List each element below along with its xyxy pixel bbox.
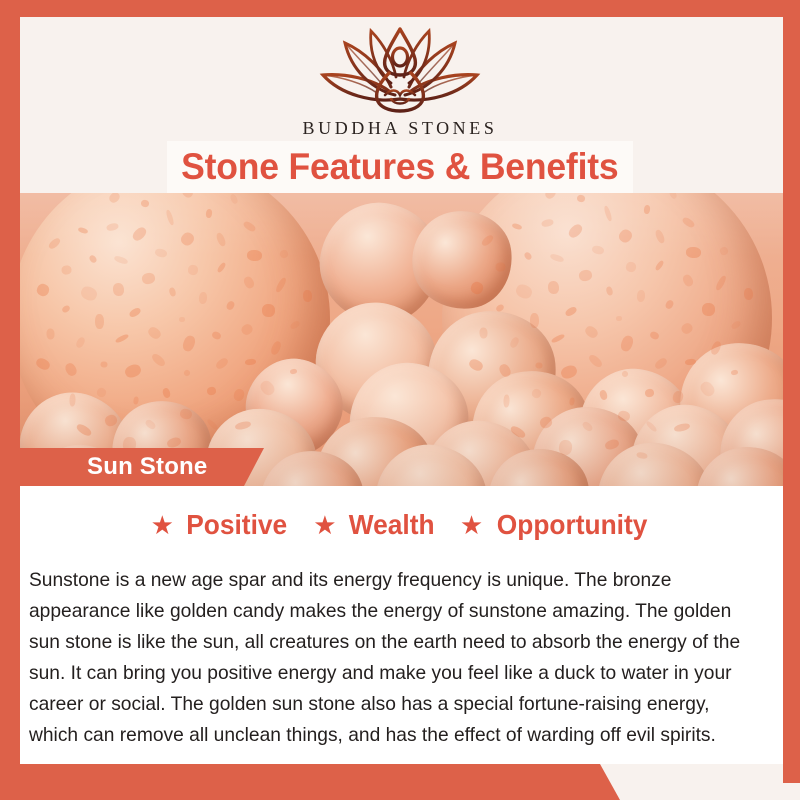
star-icon: ★	[313, 512, 336, 538]
product-photo	[20, 193, 783, 486]
star-icon: ★	[151, 512, 174, 538]
stone-name-label: Sun Stone	[87, 453, 207, 481]
title-banner: Stone Features & Benefits	[167, 141, 633, 193]
benefit-label: Positive	[186, 509, 287, 541]
brand-logo-block: BUDDHA STONES	[0, 25, 800, 137]
benefit-label: Opportunity	[497, 509, 648, 541]
stone-description: Sunstone is a new age spar and its energ…	[29, 565, 763, 751]
photo-shading-overlay	[20, 193, 783, 486]
frame-bottom-border	[0, 764, 620, 800]
stone-name-ribbon: Sun Stone	[20, 448, 264, 486]
benefit-label: Wealth	[348, 509, 434, 541]
lotus-meditation-icon	[315, 25, 485, 117]
benefits-row: ★Positive★Wealth★Opportunity	[20, 509, 783, 541]
benefit-item: ★Positive	[151, 509, 291, 541]
infographic-page: Sun Stone	[0, 0, 800, 800]
benefit-item: ★Opportunity	[460, 509, 653, 541]
benefit-item: ★Wealth	[313, 509, 437, 541]
frame-left-border	[0, 17, 20, 800]
page-title: Stone Features & Benefits	[181, 146, 618, 188]
frame-top-border	[0, 0, 800, 17]
frame-right-border	[783, 0, 800, 783]
brand-name: BUDDHA STONES	[0, 119, 800, 137]
star-icon: ★	[460, 512, 483, 538]
